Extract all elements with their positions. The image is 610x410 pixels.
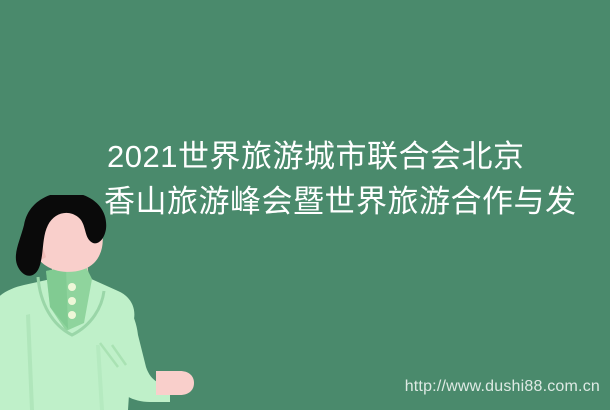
- person-looking-up-illustration: [0, 195, 200, 410]
- button-icon: [68, 311, 76, 319]
- collar-outline-shape: [38, 277, 104, 335]
- watermark-url: http://www.dushi88.com.cn: [405, 378, 600, 396]
- ear-shape: [31, 239, 46, 259]
- hoodie-fold-shape: [26, 314, 34, 410]
- headline-line-1: 2021世界旅游城市联合会北京: [0, 134, 610, 179]
- collar-shape: [46, 263, 92, 331]
- headline-line-2: 香山旅游峰会暨世界旅游合作与发: [0, 179, 610, 224]
- cover-image: 2021世界旅游城市联合会北京 香山旅游峰会暨世界旅游合作与发 http://w…: [0, 0, 610, 410]
- hand-shape: [156, 371, 194, 395]
- button-icon: [68, 297, 76, 305]
- arm-sleeve-shape: [94, 295, 170, 402]
- sleeve-seam-shape: [100, 343, 126, 367]
- neck-shape: [50, 253, 90, 293]
- headline: 2021世界旅游城市联合会北京 香山旅游峰会暨世界旅游合作与发: [0, 134, 610, 224]
- hoodie-fold-2-shape: [96, 345, 104, 410]
- hoodie-body-shape: [0, 273, 134, 410]
- collar-dark-shape: [46, 267, 68, 329]
- button-icon: [68, 283, 76, 291]
